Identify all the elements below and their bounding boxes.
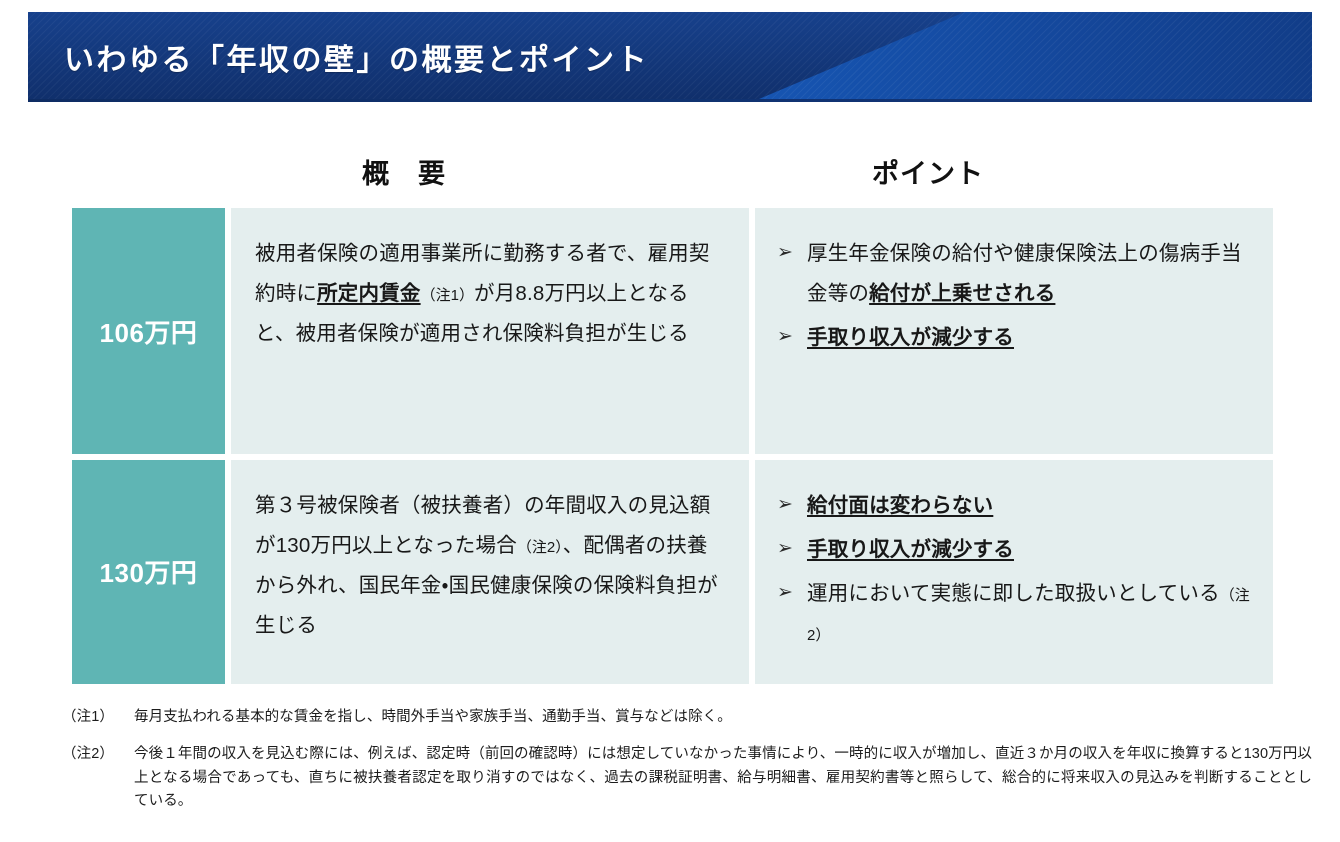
summary-note-ref: （注2） — [517, 539, 563, 556]
footnote-item: （注2） 今後１年間の収入を見込む際には、例えば、認定時（前回の確認時）には想定… — [62, 743, 1312, 813]
list-item-text: 運用において実態に即した取扱いとしている（注2） — [807, 574, 1253, 654]
footnote-text: 毎月支払われる基本的な賃金を指し、時間外手当や家族手当、通勤手当、賞与などは除く… — [134, 706, 1312, 729]
list-item: ➢ 手取り収入が減少する — [777, 318, 1253, 358]
arrow-bullet-icon: ➢ — [777, 234, 807, 271]
list-item: ➢ 給付面は変わらない — [777, 486, 1253, 526]
list-item-text: 手取り収入が減少する — [807, 318, 1253, 358]
header-banner: いわゆる「年収の壁」の概要とポイント — [28, 12, 1312, 102]
amount-value: 106万円 — [100, 313, 198, 350]
arrow-bullet-icon: ➢ — [777, 530, 807, 567]
column-heading-summary: 概 要 — [362, 152, 446, 191]
arrow-bullet-icon: ➢ — [777, 486, 807, 523]
arrow-bullet-icon: ➢ — [777, 574, 807, 611]
summary-cell: 第３号被保険者（被扶養者）の年間収入の見込額が130万円以上となった場合（注2）… — [231, 460, 749, 684]
column-headings: 概 要 ポイント — [72, 152, 1273, 202]
list-item: ➢ 厚生年金保険の給付や健康保険法上の傷病手当金等の給付が上乗せされる — [777, 234, 1253, 314]
column-heading-points: ポイント — [872, 152, 984, 191]
list-item: ➢ 運用において実態に即した取扱いとしている（注2） — [777, 574, 1253, 654]
points-cell: ➢ 給付面は変わらない ➢ 手取り収入が減少する ➢ 運用において実態に即した取… — [755, 460, 1273, 684]
footnote-label: （注2） — [62, 743, 134, 766]
table-row: 130万円 第３号被保険者（被扶養者）の年間収入の見込額が130万円以上となった… — [72, 460, 1273, 684]
summary-cell: 被用者保険の適用事業所に勤務する者で、雇用契約時に所定内賃金（注1）が月8.8万… — [231, 208, 749, 454]
summary-text: 被用者保険の適用事業所に勤務する者で、雇用契約時に所定内賃金（注1）が月8.8万… — [255, 234, 727, 354]
point-text: 運用において実態に即した取扱いとしている — [807, 582, 1220, 605]
points-cell: ➢ 厚生年金保険の給付や健康保険法上の傷病手当金等の給付が上乗せされる ➢ 手取… — [755, 208, 1273, 454]
list-item: ➢ 手取り収入が減少する — [777, 530, 1253, 570]
points-list: ➢ 給付面は変わらない ➢ 手取り収入が減少する ➢ 運用において実態に即した取… — [777, 486, 1253, 654]
footnote-text: 今後１年間の収入を見込む際には、例えば、認定時（前回の確認時）には想定していなか… — [134, 743, 1312, 813]
page-title: いわゆる「年収の壁」の概要とポイント — [64, 35, 649, 79]
footnote-label: （注1） — [62, 706, 134, 729]
summary-emphasis: 所定内賃金 — [317, 282, 421, 305]
list-item-text: 厚生年金保険の給付や健康保険法上の傷病手当金等の給付が上乗せされる — [807, 234, 1253, 314]
arrow-bullet-icon: ➢ — [777, 318, 807, 355]
income-wall-table: 106万円 被用者保険の適用事業所に勤務する者で、雇用契約時に所定内賃金（注1）… — [72, 208, 1273, 684]
banner-bottom-edge — [28, 99, 1312, 102]
list-item-text: 手取り収入が減少する — [807, 530, 1253, 570]
point-emphasis: 給付が上乗せされる — [869, 282, 1055, 305]
footnote-item: （注1） 毎月支払われる基本的な賃金を指し、時間外手当や家族手当、通勤手当、賞与… — [62, 706, 1312, 729]
points-list: ➢ 厚生年金保険の給付や健康保険法上の傷病手当金等の給付が上乗せされる ➢ 手取… — [777, 234, 1253, 358]
summary-text: 第３号被保険者（被扶養者）の年間収入の見込額が130万円以上となった場合（注2）… — [255, 486, 727, 646]
amount-label-cell: 106万円 — [72, 208, 225, 454]
list-item-text: 給付面は変わらない — [807, 486, 1253, 526]
footnotes: （注1） 毎月支払われる基本的な賃金を指し、時間外手当や家族手当、通勤手当、賞与… — [62, 706, 1312, 828]
amount-label-cell: 130万円 — [72, 460, 225, 684]
summary-note-ref: （注1） — [421, 287, 474, 304]
table-row: 106万円 被用者保険の適用事業所に勤務する者で、雇用契約時に所定内賃金（注1）… — [72, 208, 1273, 454]
amount-value: 130万円 — [100, 553, 198, 590]
